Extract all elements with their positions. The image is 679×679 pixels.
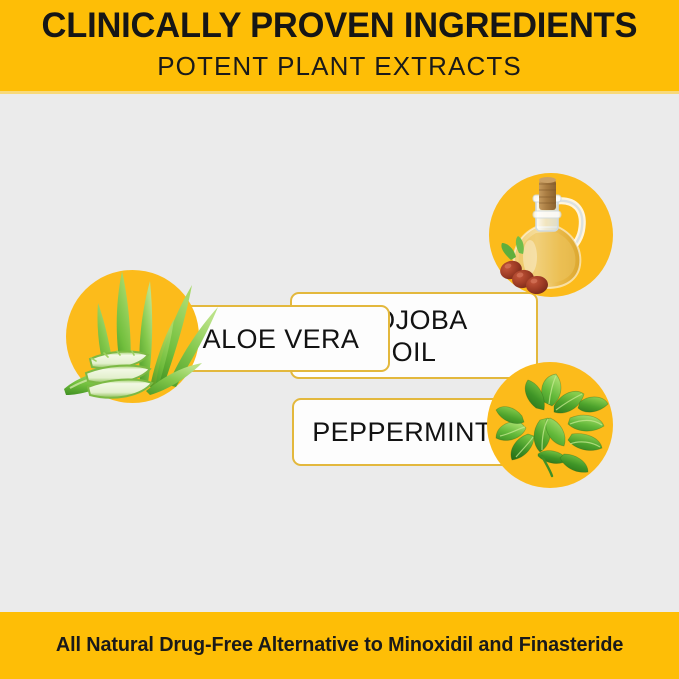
header-banner: CLINICALLY PROVEN INGREDIENTS POTENT PLA… xyxy=(0,0,679,91)
aloe-vera-icon xyxy=(50,255,225,410)
ingredient-label-text: ALOE VERA xyxy=(203,323,360,355)
footer-tagline: All Natural Drug-Free Alternative to Min… xyxy=(56,634,623,657)
page-title: CLINICALLY PROVEN INGREDIENTS xyxy=(42,5,638,47)
ingredient-label-peppermint[interactable]: PEPPERMINT xyxy=(292,398,512,466)
footer-banner: All Natural Drug-Free Alternative to Min… xyxy=(0,612,679,679)
page-subtitle: POTENT PLANT EXTRACTS xyxy=(157,49,522,83)
ingredients-infographic: CLINICALLY PROVEN INGREDIENTS POTENT PLA… xyxy=(0,0,679,679)
peppermint-leaves-icon xyxy=(492,372,610,480)
ingredient-stage: JOJOBA OIL xyxy=(0,91,679,612)
oil-bottle-icon xyxy=(494,175,609,295)
ingredient-label-text: PEPPERMINT xyxy=(312,416,492,448)
